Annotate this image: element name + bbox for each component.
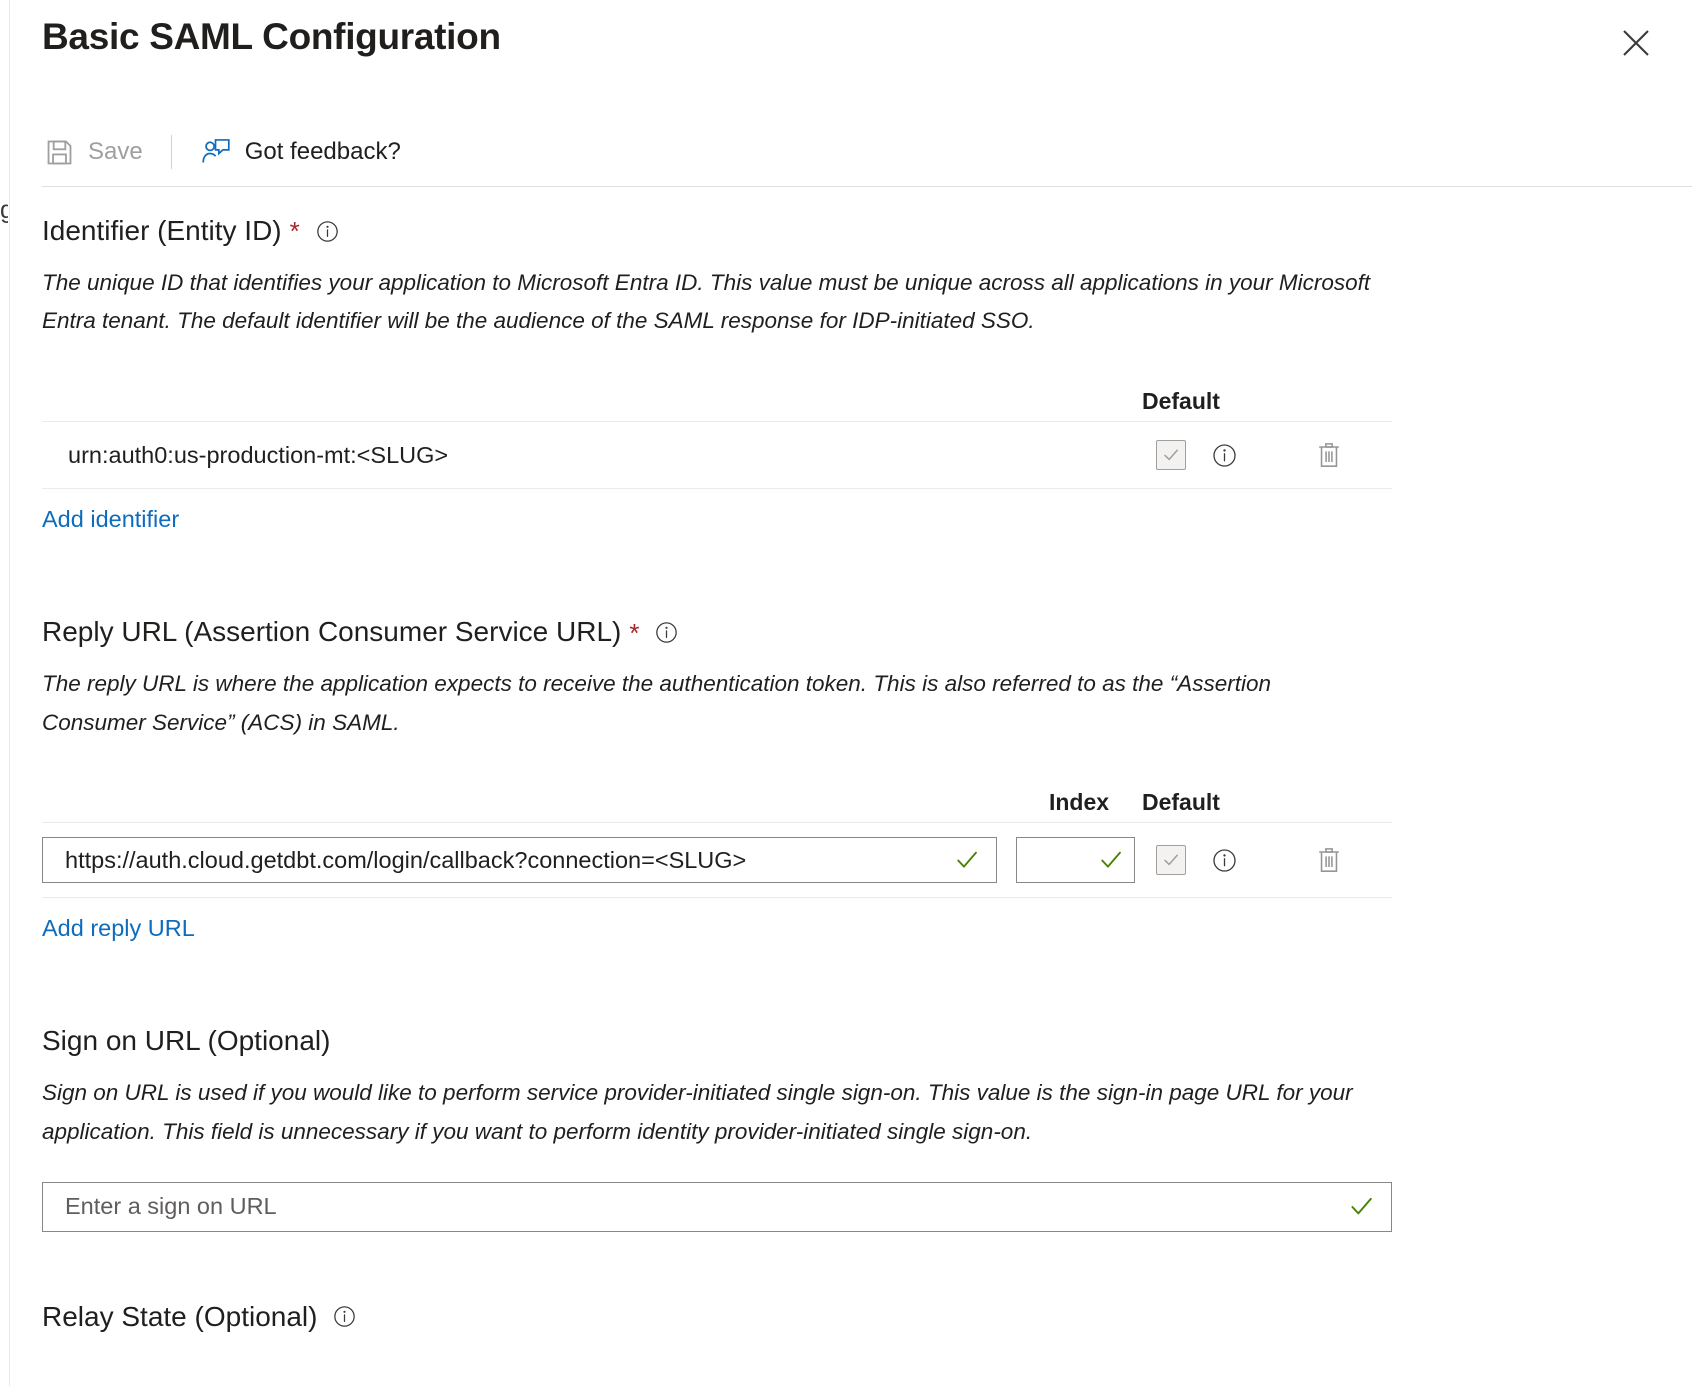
reply-url-value-cell: https://auth.cloud.getdbt.com/login/call… <box>42 837 1016 883</box>
reply-url-input[interactable]: https://auth.cloud.getdbt.com/login/call… <box>42 837 997 883</box>
reply-url-label-row: Reply URL (Assertion Consumer Service UR… <box>42 617 1650 648</box>
green-check-icon <box>954 847 996 873</box>
reply-url-col-default-header: Default <box>1142 789 1266 816</box>
reply-url-table-header: Index Default <box>42 772 1392 823</box>
identifier-value: urn:auth0:us-production-mt:<SLUG> <box>42 442 448 468</box>
reply-url-default-checkbox <box>1156 845 1186 875</box>
sign-on-url-label: Sign on URL (Optional) <box>42 1026 330 1057</box>
spacer <box>0 942 1692 1026</box>
identifier-default-cell <box>1142 440 1266 470</box>
save-label: Save <box>88 138 143 166</box>
identifier-table: Default urn:auth0:us-production-mt:<SLUG… <box>42 371 1392 489</box>
reply-url-row-info-icon[interactable] <box>1212 848 1237 873</box>
reply-url-default-cell <box>1142 845 1266 875</box>
identifier-required-marker: * <box>290 218 300 244</box>
got-feedback-label: Got feedback? <box>245 138 401 166</box>
basic-saml-configuration-blade: Basic SAML Configuration Save <box>0 0 1692 1386</box>
identifier-description: The unique ID that identifies your appli… <box>42 264 1372 341</box>
got-feedback-button[interactable]: Got feedback? <box>200 130 401 174</box>
reply-url-input-value: https://auth.cloud.getdbt.com/login/call… <box>43 847 954 874</box>
sign-on-url-input-value: Enter a sign on URL <box>43 1193 1348 1220</box>
reply-url-info-icon[interactable] <box>655 621 678 644</box>
identifier-delete-cell[interactable] <box>1266 441 1392 470</box>
identifier-value-cell: urn:auth0:us-production-mt:<SLUG> <box>42 442 1142 469</box>
relay-state-info-icon[interactable] <box>333 1305 356 1328</box>
reply-url-col-index-header: Index <box>1016 789 1142 816</box>
identifier-label-row: Identifier (Entity ID) * <box>42 216 1650 247</box>
reply-url-index-cell <box>1016 837 1142 883</box>
green-check-icon <box>1348 1193 1391 1220</box>
person-feedback-icon <box>200 136 232 168</box>
identifier-label: Identifier (Entity ID) <box>42 216 282 247</box>
blade-content: Identifier (Entity ID) * The unique ID t… <box>0 186 1692 1332</box>
green-check-icon <box>1098 847 1134 873</box>
identifier-default-checkbox <box>1156 440 1186 470</box>
page-title: Basic SAML Configuration <box>42 16 501 58</box>
command-bar-divider <box>171 135 172 169</box>
spacer <box>0 533 1692 617</box>
save-button[interactable]: Save <box>44 130 143 174</box>
reply-url-label: Reply URL (Assertion Consumer Service UR… <box>42 617 621 648</box>
add-identifier-link[interactable]: Add identifier <box>42 506 179 533</box>
section-sign-on-url: Sign on URL (Optional) Sign on URL is us… <box>0 1026 1692 1231</box>
save-floppy-icon <box>44 137 75 168</box>
section-identifier: Identifier (Entity ID) * The unique ID t… <box>0 186 1692 533</box>
trash-icon <box>1315 846 1343 875</box>
sign-on-url-description: Sign on URL is used if you would like to… <box>42 1074 1372 1151</box>
reply-url-table: Index Default https://auth.cloud.getdbt.… <box>42 772 1392 898</box>
table-row: urn:auth0:us-production-mt:<SLUG> <box>42 422 1392 489</box>
close-icon <box>1619 26 1653 60</box>
spacer <box>0 1232 1692 1302</box>
sign-on-url-input[interactable]: Enter a sign on URL <box>42 1182 1392 1232</box>
reply-url-delete-cell[interactable] <box>1266 846 1392 875</box>
table-row: https://auth.cloud.getdbt.com/login/call… <box>42 823 1392 898</box>
identifier-col-default-header: Default <box>1142 388 1266 415</box>
command-bar: Save Got feedback? <box>0 120 1692 184</box>
identifier-info-icon[interactable] <box>316 220 339 243</box>
trash-icon <box>1315 441 1343 470</box>
reply-url-required-marker: * <box>629 620 639 646</box>
section-relay-state: Relay State (Optional) <box>0 1302 1692 1333</box>
reply-url-description: The reply URL is where the application e… <box>42 665 1372 742</box>
section-reply-url: Reply URL (Assertion Consumer Service UR… <box>0 617 1692 942</box>
relay-state-label-row: Relay State (Optional) <box>42 1302 1650 1333</box>
reply-url-index-input[interactable] <box>1016 837 1135 883</box>
close-button[interactable] <box>1616 23 1656 63</box>
sign-on-url-label-row: Sign on URL (Optional) <box>42 1026 1650 1057</box>
identifier-row-info-icon[interactable] <box>1212 443 1237 468</box>
relay-state-label: Relay State (Optional) <box>42 1302 317 1333</box>
blade-header: Basic SAML Configuration <box>0 0 1692 104</box>
add-reply-url-link[interactable]: Add reply URL <box>42 915 195 942</box>
identifier-table-header: Default <box>42 371 1392 422</box>
